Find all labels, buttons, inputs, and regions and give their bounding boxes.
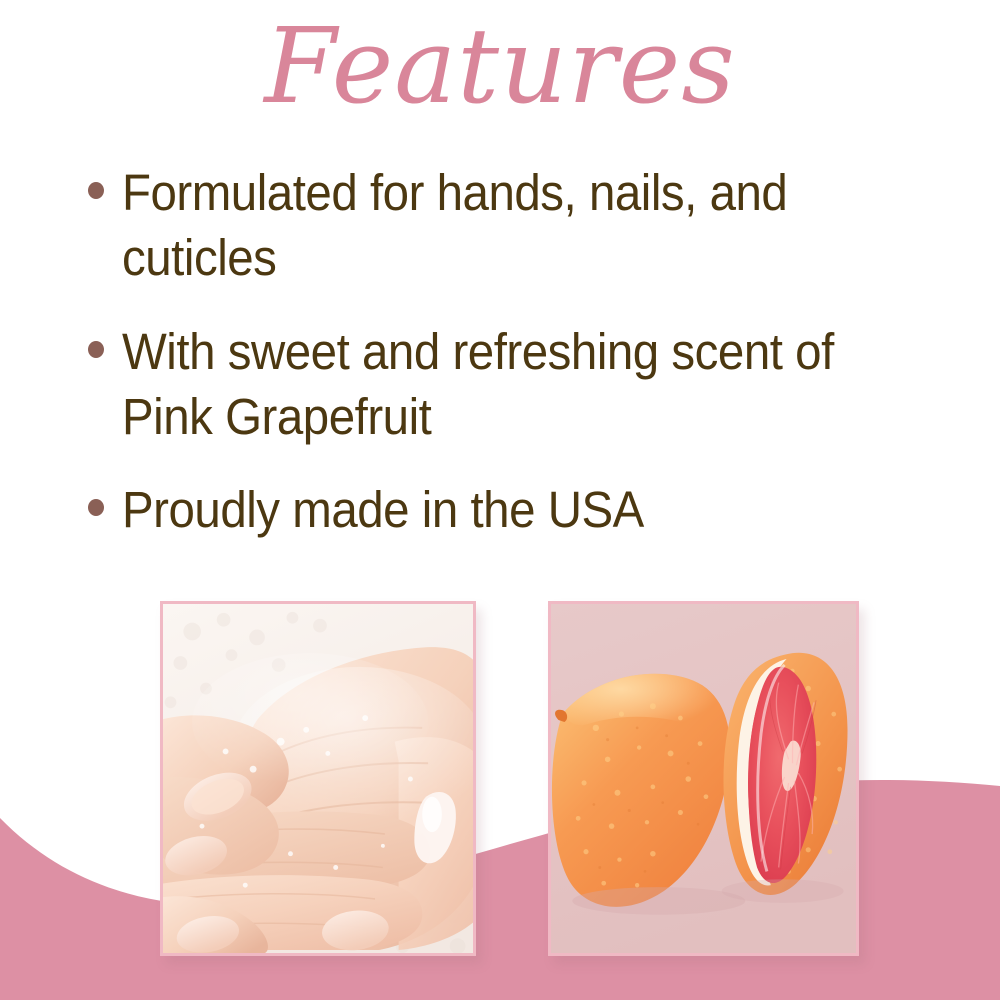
bullet-dot-icon: [88, 499, 104, 516]
hands-lotion-photo: [160, 601, 476, 956]
feature-label: Formulated for hands, nails, and cuticle…: [122, 160, 834, 291]
feature-label: Proudly made in the USA: [122, 477, 834, 542]
pink-grapefruit-photo: [548, 601, 859, 956]
list-item: Proudly made in the USA: [88, 477, 888, 542]
features-panel: Features Formulated for hands, nails, an…: [0, 0, 1000, 1000]
feature-label: With sweet and refreshing scent of Pink …: [122, 319, 834, 450]
page-title: Features: [0, 8, 1000, 124]
bullet-dot-icon: [88, 341, 104, 358]
bullet-dot-icon: [88, 182, 104, 199]
list-item: Formulated for hands, nails, and cuticle…: [88, 160, 888, 291]
feature-list: Formulated for hands, nails, and cuticle…: [88, 160, 888, 542]
list-item: With sweet and refreshing scent of Pink …: [88, 319, 888, 450]
